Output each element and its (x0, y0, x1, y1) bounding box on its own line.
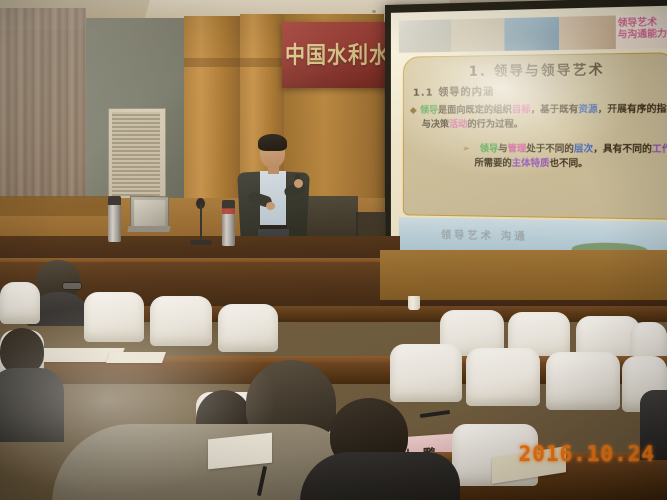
ceiling-light-dot (372, 10, 376, 13)
paper-cup (408, 296, 420, 310)
header-photo-screens (505, 17, 560, 51)
header-course-title: 领导艺术与沟通能力 (618, 17, 667, 41)
glasses-icon (62, 282, 82, 290)
slide-title: 1. 领导与领导艺术 (404, 58, 667, 81)
thermos-left-cap (108, 196, 121, 205)
presenter-hair (258, 134, 287, 151)
attendee-body-right-front (300, 452, 460, 500)
chair (546, 352, 620, 410)
air-vent-grill-icon (112, 112, 160, 208)
header-photo-documents (399, 19, 451, 52)
slide-bullet-2-line1: ➢ 领导与管理处于不同的层次，具有不同的工作内容与重点，各 (462, 142, 667, 157)
projection-screen-frame: 领导艺术与沟通能力 1. 领导与领导艺术 1.1 领导的内涵 ◆ 领导是面向既定… (385, 0, 667, 275)
slide-content-card: 1. 领导与领导艺术 1.1 领导的内涵 ◆ 领导是面向既定的组织目标，基于既有… (403, 52, 667, 220)
wood-wall-lower-shadow (0, 196, 120, 216)
banner-glare (282, 22, 398, 88)
header-photo-handshake (559, 15, 615, 50)
thermos-left (108, 202, 121, 242)
camera-date-stamp: 2016.10.24 (519, 442, 655, 466)
chair (0, 282, 40, 324)
header-title-cell: 领导艺术与沟通能力 (615, 14, 667, 49)
laptop-screen (134, 200, 165, 227)
slide-header-strip: 领导艺术与沟通能力 (399, 14, 667, 53)
bullet-marker-diamond-icon: ◆ (410, 106, 417, 116)
presenter-hand-left (266, 202, 275, 210)
chair (84, 292, 144, 342)
slide-bullet-1-line1: ◆ 领导是面向既定的组织目标，基于既有资源，开展有序的指挥、管 (410, 102, 667, 118)
laptop-keyboard-base (127, 226, 170, 232)
chair (390, 344, 462, 402)
chair (466, 348, 540, 406)
header-photo-corridor (451, 18, 505, 52)
slide-subtitle: 1.1 领导的内涵 (413, 83, 494, 99)
thermos-right-band (222, 208, 235, 214)
desk-microphone-stand (200, 204, 202, 242)
slide-bullet-1-line2: 与决策活动的行为过程。 (422, 117, 667, 132)
desk-microphone-base (190, 240, 212, 245)
wood-trim-band (184, 58, 284, 67)
chair (218, 304, 278, 352)
conference-photograph: 中国水利水电 领导艺术与沟通能力 1. 领导与领导艺术 1.1 领导的内涵 ◆ (0, 0, 667, 500)
attendee-body-left (0, 368, 64, 442)
pen (420, 410, 450, 418)
curtain-shading (0, 8, 86, 198)
bullet-marker-arrow-icon: ➢ (462, 144, 470, 154)
chair (150, 296, 212, 346)
projection-screen: 领导艺术与沟通能力 1. 领导与领导艺术 1.1 领导的内涵 ◆ 领导是面向既定… (391, 5, 667, 268)
slide-bullet-2-line2: 所需要的主体特质也不同。 (475, 156, 667, 172)
presenter-hand-right (294, 179, 303, 188)
slide-footer-caption: 领导艺术 沟通 (441, 226, 528, 243)
red-banner: 中国水利水电 (282, 22, 398, 88)
paper-sheet (106, 352, 166, 363)
wall-below-screen (380, 250, 667, 300)
